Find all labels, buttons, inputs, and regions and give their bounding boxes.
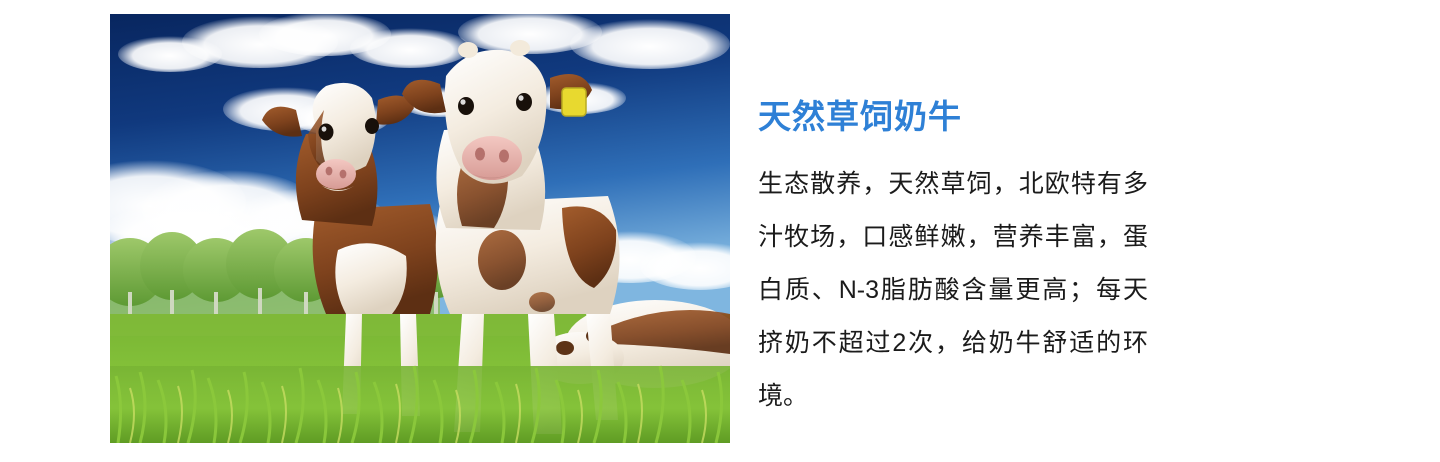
feature-description: 生态散养，天然草饲，北欧特有多汁牧场，口感鲜嫩，营养丰富，蛋白质、N-3脂肪酸含…: [758, 138, 1148, 423]
foreground-grass: [110, 366, 730, 443]
pasture-illustration: [110, 14, 730, 443]
cow-pasture-photo: [110, 14, 730, 443]
product-feature-banner: 天然草饲奶牛 生态散养，天然草饲，北欧特有多汁牧场，口感鲜嫩，营养丰富，蛋白质、…: [0, 0, 1440, 462]
ear-tag: [562, 88, 586, 116]
feature-text-block: 天然草饲奶牛 生态散养，天然草饲，北欧特有多汁牧场，口感鲜嫩，营养丰富，蛋白质、…: [758, 96, 1358, 423]
page-title: 天然草饲奶牛: [758, 96, 1358, 138]
